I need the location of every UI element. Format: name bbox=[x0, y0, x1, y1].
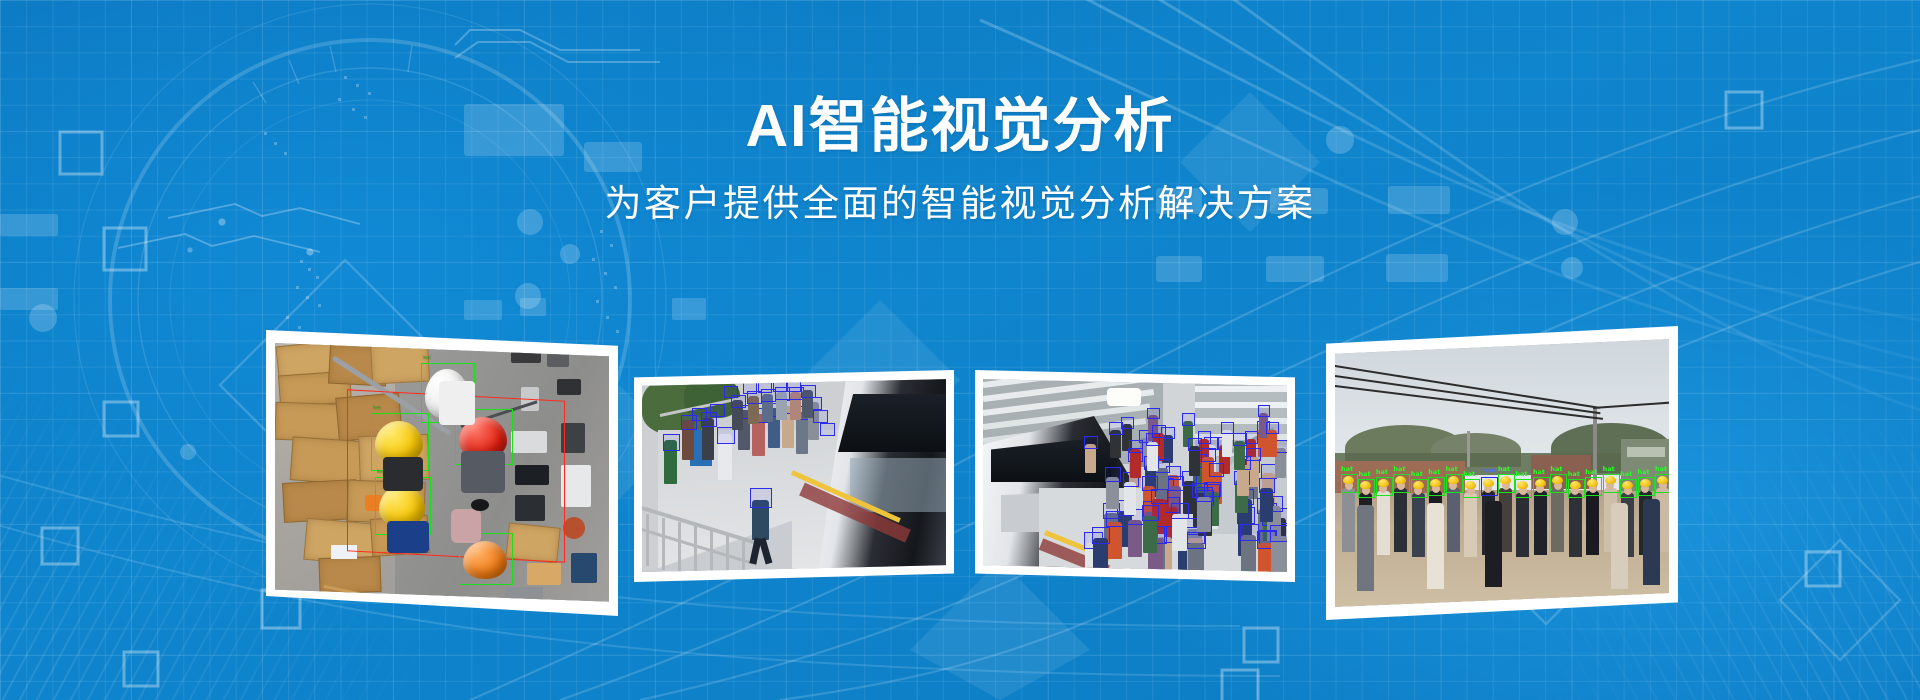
hat-detection-label: hat bbox=[1638, 469, 1650, 476]
hat-detection-label: hat bbox=[1655, 466, 1667, 473]
person bbox=[1342, 488, 1355, 552]
hat-detection-label: hat bbox=[1428, 469, 1440, 476]
hat-detection-label: hat bbox=[1533, 469, 1545, 476]
hat-detection-box bbox=[1638, 477, 1655, 496]
hat-detection-label: hat bbox=[1358, 471, 1370, 478]
detection-box bbox=[1258, 405, 1270, 417]
hat-detection-box bbox=[1341, 474, 1358, 493]
hat-detection-box bbox=[1411, 479, 1428, 498]
hat-detection-box bbox=[1376, 477, 1393, 496]
detection-box bbox=[1142, 505, 1159, 521]
detection-box bbox=[1146, 433, 1160, 446]
hat-detection-box bbox=[1568, 479, 1585, 498]
person bbox=[1551, 488, 1564, 552]
detection-box bbox=[1187, 532, 1206, 549]
detection-box bbox=[1270, 525, 1287, 542]
hat-detection-box bbox=[1550, 474, 1567, 493]
detection-box bbox=[1201, 448, 1216, 462]
hat-detection-label: hat bbox=[1411, 471, 1423, 478]
detection-box bbox=[1168, 476, 1184, 491]
person-foreground bbox=[1643, 499, 1660, 585]
hat-detection-label: hat bbox=[1585, 469, 1597, 476]
hat-detection-label: hat bbox=[1568, 471, 1580, 478]
page-title: AI智能视觉分析 bbox=[0, 96, 1920, 158]
detection-box bbox=[1106, 511, 1124, 528]
hat-detection-box bbox=[1358, 479, 1375, 498]
person bbox=[1377, 491, 1390, 555]
detection-box bbox=[1188, 438, 1202, 451]
person-foreground bbox=[1357, 505, 1374, 591]
hat-detection-label: hat bbox=[1603, 466, 1615, 473]
detection-box bbox=[1109, 422, 1122, 435]
detection-box bbox=[1129, 440, 1143, 453]
person bbox=[1241, 535, 1256, 574]
photo-platform-crowd-counting bbox=[642, 378, 946, 574]
hat-detection-box bbox=[1620, 479, 1637, 498]
detection-box bbox=[1147, 408, 1160, 420]
detection-box bbox=[1196, 487, 1213, 502]
no-hat-detection-label: head bbox=[1481, 469, 1496, 475]
hat-detection-label: hat bbox=[1515, 471, 1527, 478]
person bbox=[1143, 516, 1157, 553]
detection-label: hat bbox=[423, 357, 431, 362]
page-subtitle: 为客户提供全面的智能视觉分析解决方案 bbox=[0, 184, 1920, 225]
detection-box bbox=[1151, 489, 1168, 505]
hat-detection-box bbox=[1498, 474, 1515, 493]
person bbox=[1464, 493, 1477, 557]
hat-detection-box bbox=[1393, 474, 1410, 493]
gallery-card-warehouse-helmet-detection[interactable]: hat hat hat hat hat bbox=[266, 330, 618, 616]
no-hat-detection-box bbox=[1481, 477, 1498, 496]
person bbox=[1569, 493, 1582, 557]
detection-box bbox=[1233, 433, 1247, 446]
hat-detection-box bbox=[1428, 477, 1445, 496]
person bbox=[1447, 488, 1460, 552]
hat-detection-label: hat bbox=[1620, 471, 1632, 478]
person bbox=[1534, 491, 1547, 555]
hat-detection-label: hat bbox=[1341, 466, 1353, 473]
detection-box bbox=[1259, 478, 1275, 493]
person bbox=[1412, 493, 1425, 557]
hat-detection-box bbox=[1463, 479, 1480, 498]
hat-detection-label: hat bbox=[1498, 466, 1510, 473]
person-foreground bbox=[1427, 503, 1444, 589]
person bbox=[1586, 491, 1599, 555]
gallery-card-station-dense-crowd-detection[interactable] bbox=[975, 370, 1295, 582]
person-foreground bbox=[1485, 501, 1502, 587]
photo-outdoor-hat-detection: hathathathathathathathatheadhathathathat… bbox=[1335, 335, 1669, 611]
hat-detection-box bbox=[1533, 477, 1550, 496]
person bbox=[1516, 493, 1529, 557]
hat-detection-box bbox=[1585, 477, 1602, 496]
hat-detection-label: hat bbox=[1550, 466, 1562, 473]
hat-detection-box bbox=[1446, 474, 1463, 493]
detection-box bbox=[1121, 417, 1134, 429]
hat-detection-label: hat bbox=[1463, 471, 1475, 478]
detection-box bbox=[1084, 436, 1098, 449]
hat-detection-label: hat bbox=[1446, 466, 1458, 473]
headline-block: AI智能视觉分析 为客户提供全面的智能视觉分析解决方案 bbox=[0, 96, 1920, 225]
person bbox=[1394, 488, 1407, 552]
hat-detection-box bbox=[1515, 479, 1532, 498]
person-foreground bbox=[1611, 503, 1628, 589]
detection-box bbox=[1221, 422, 1234, 435]
ai-visual-analysis-banner: AI智能视觉分析 为客户提供全面的智能视觉分析解决方案 bbox=[0, 0, 1920, 700]
gallery-card-platform-crowd-counting[interactable] bbox=[634, 370, 954, 582]
detection-box bbox=[1171, 503, 1188, 519]
hat-detection-label: hat bbox=[1376, 469, 1388, 476]
person bbox=[1128, 520, 1142, 558]
photo-station-dense-crowd-detection bbox=[983, 378, 1287, 574]
hat-detection-box bbox=[1655, 474, 1669, 493]
gallery-card-outdoor-hat-detection[interactable]: hathathathathathathathatheadhathathathat… bbox=[1326, 326, 1678, 620]
photo-warehouse-helmet-detection: hat hat hat hat hat bbox=[275, 339, 609, 607]
detection-box bbox=[1105, 467, 1121, 482]
detection-box bbox=[1092, 527, 1111, 544]
detection-box bbox=[1209, 463, 1224, 477]
hat-detection-box bbox=[1603, 474, 1620, 493]
hat-detection-label: hat bbox=[1393, 466, 1405, 473]
detection-box bbox=[1266, 422, 1279, 435]
detection-box bbox=[1182, 413, 1195, 425]
